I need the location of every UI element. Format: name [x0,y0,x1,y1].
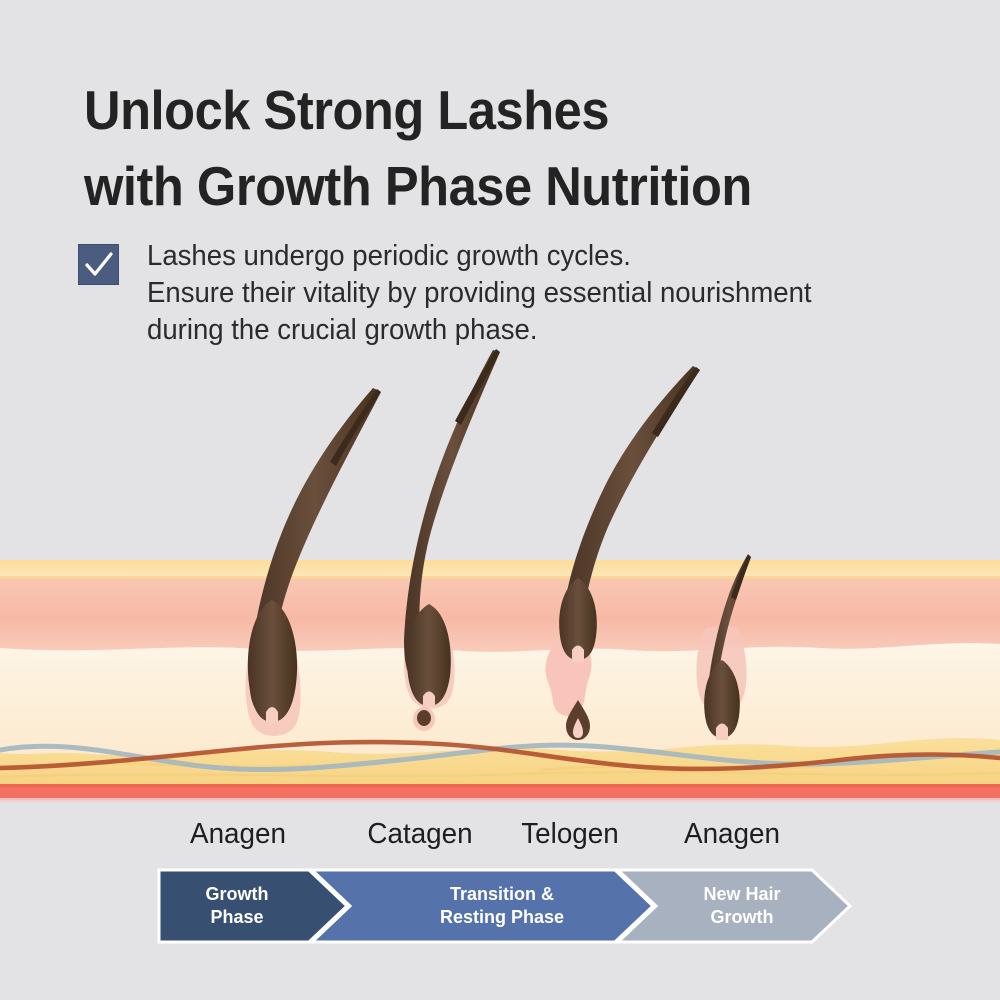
phase-segment-label-growth-phase: Growth Phase [206,883,269,929]
new-hair-growth-line-2: Growth [703,906,780,929]
check-glyph [85,252,113,279]
skin-cross-section [0,560,1000,802]
headline-line-1: Unlock Strong Lashes [84,72,875,148]
headline-line-2: with Growth Phase Nutrition [84,148,875,224]
infographic-canvas: Unlock Strong Lashes with Growth Phase N… [0,0,1000,1000]
phase-label-telogen: Telogen [521,818,619,851]
bullet-text: Lashes undergo periodic growth cycles. E… [147,238,812,349]
check-icon [78,244,119,285]
layer-dermis [0,643,1000,755]
phase-segment-label-transition-resting-phase: Transition & Resting Phase [440,883,564,929]
growth-phase-line-1: Growth [206,883,269,906]
phase-label-anagen-2: Anagen [684,818,780,851]
phase-label-catagen: Catagen [367,818,472,851]
phase-segment-label-new-hair-growth: New Hair Growth [703,883,780,929]
bullet-line-1: Lashes undergo periodic growth cycles. [147,238,812,275]
growth-phase-line-2: Phase [206,906,269,929]
transition-phase-line-1: Transition & [440,883,564,906]
phase-label-row: Anagen Catagen Telogen Anagen [150,818,870,858]
bullet-line-3: during the crucial growth phase. [147,312,812,349]
layer-epidermis [0,579,1000,652]
bullet-block: Lashes undergo periodic growth cycles. E… [78,238,868,349]
new-hair-growth-line-1: New Hair [703,883,780,906]
page-title: Unlock Strong Lashes with Growth Phase N… [84,72,875,224]
phase-label-anagen-1: Anagen [190,818,286,851]
phase-progress-bar: Growth Phase Transition & Resting Phase … [157,868,852,944]
transition-phase-line-2: Resting Phase [440,906,564,929]
bullet-line-2: Ensure their vitality by providing essen… [147,275,812,312]
